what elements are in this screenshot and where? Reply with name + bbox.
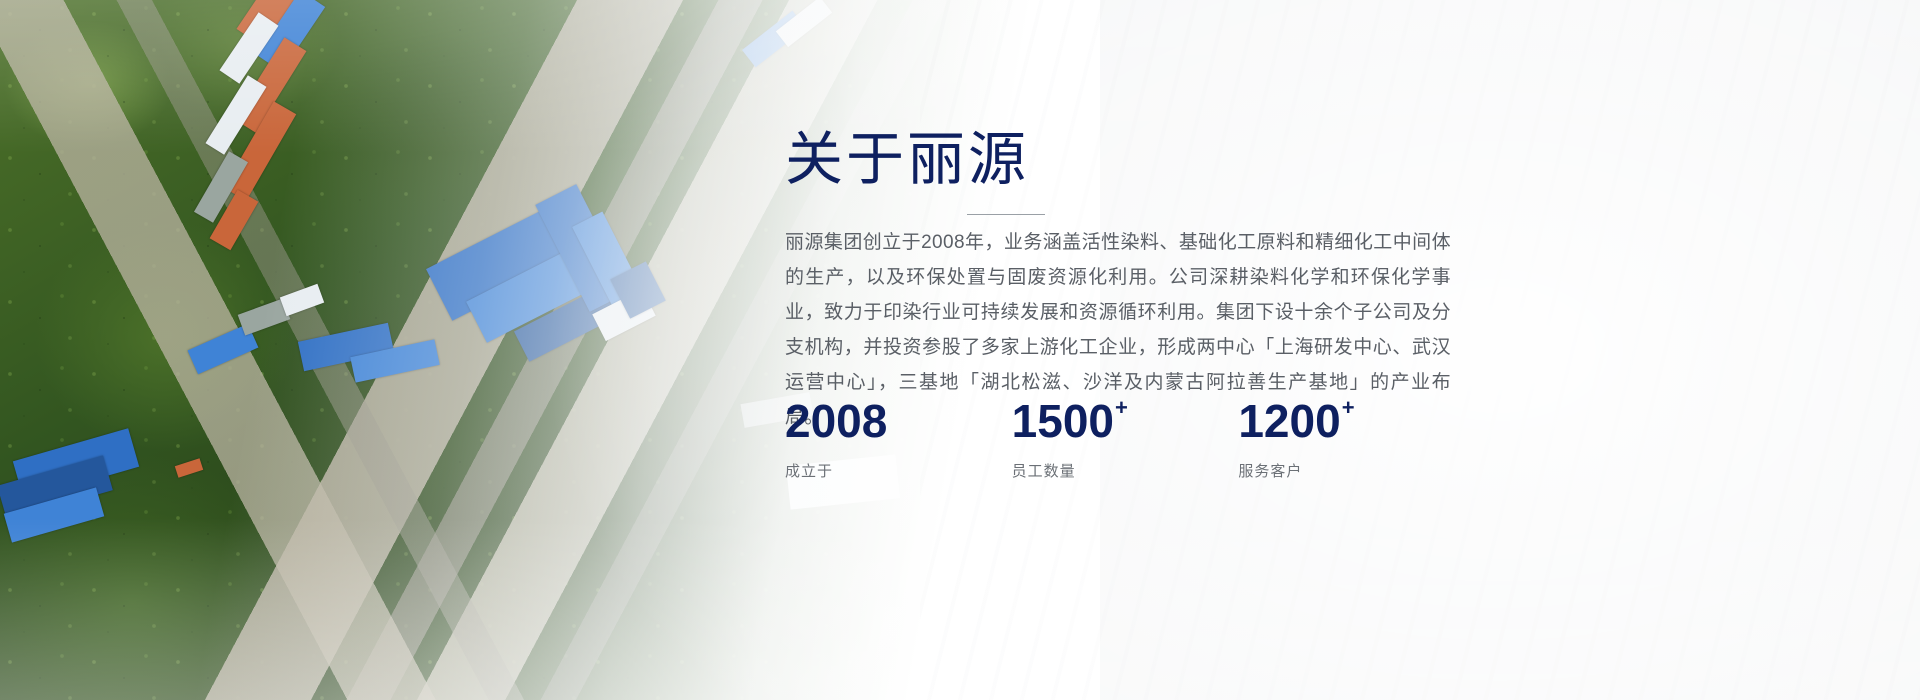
stat-number: 1200 (1238, 395, 1340, 447)
page-title: 关于丽源 (785, 127, 1029, 194)
stat-value: 2008 (785, 398, 1012, 444)
stat-item-customers: 1200+ 服务客户 (1238, 398, 1465, 481)
stats-row: 2008 成立于 1500+ 员工数量 1200+ 服务客户 (785, 398, 1465, 481)
stat-value: 1500+ (1012, 398, 1239, 444)
stat-item-employees: 1500+ 员工数量 (1012, 398, 1239, 481)
stat-label: 员工数量 (1012, 460, 1239, 481)
stat-number: 1500 (1012, 395, 1114, 447)
title-divider (967, 214, 1045, 215)
stat-suffix: + (1115, 395, 1128, 420)
stat-number: 2008 (785, 395, 887, 447)
banner-content: 关于丽源 丽源集团创立于2008年，业务涵盖活性染料、基础化工原料和精细化工中间… (785, 0, 1465, 700)
stat-item-founded: 2008 成立于 (785, 398, 1012, 481)
stat-suffix: + (1342, 395, 1355, 420)
about-banner: 关于丽源 丽源集团创立于2008年，业务涵盖活性染料、基础化工原料和精细化工中间… (0, 0, 1920, 700)
stat-value: 1200+ (1238, 398, 1465, 444)
stat-label: 成立于 (785, 460, 1012, 481)
stat-label: 服务客户 (1238, 460, 1465, 481)
